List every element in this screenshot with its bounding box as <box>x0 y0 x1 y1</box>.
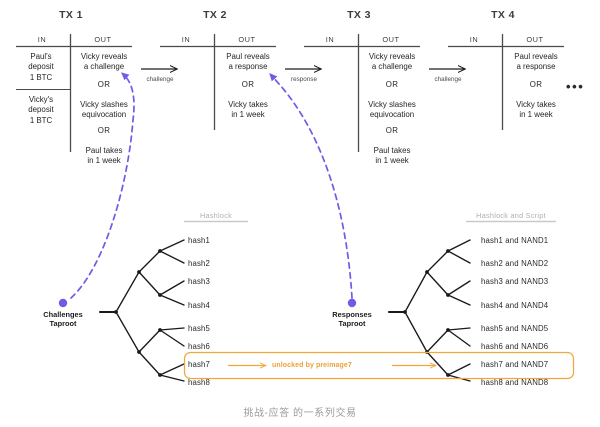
tx2-title: TX 2 <box>180 9 250 21</box>
challenges-leaf-7: hash8 <box>188 378 210 387</box>
tx3-out-item-2: Paul takes in 1 week <box>362 146 422 167</box>
tx2-out-or-0: OR <box>218 80 278 89</box>
responses-taproot-node <box>348 299 356 307</box>
tx3-out-or-1: OR <box>362 126 422 135</box>
flow-arrow-label-1: response <box>278 76 330 83</box>
challenges-tree-header: Hashlock <box>176 211 256 220</box>
tx4-title: TX 4 <box>468 9 538 21</box>
responses-tree-header: Hashlock and Script <box>461 211 561 220</box>
tx3-out-or-0: OR <box>362 80 422 89</box>
responses-taproot-label: Responses Taproot <box>317 310 387 329</box>
flow-arrow-label-0: challenge <box>134 76 186 83</box>
unlock-note: unlocked by preimage7 <box>272 362 352 369</box>
flow-arrow-label-2: challenge <box>422 76 474 83</box>
tx2-out-item-0: Paul reveals a response <box>218 52 278 73</box>
responses-leaf-7: hash8 and NAND8 <box>481 378 548 387</box>
challenges-taproot-label: Challenges Taproot <box>28 310 98 329</box>
tx2-out-header: OUT <box>220 35 274 44</box>
responses-leaf-1: hash2 and NAND2 <box>481 259 548 268</box>
responses-tree-branches <box>389 240 470 381</box>
tx3-out-item-0: Vicky reveals a challenge <box>362 52 422 73</box>
tx4-out-item-0: Paul reveals a response <box>506 52 566 73</box>
tx4-out-item-1: Vicky takes in 1 week <box>506 100 566 121</box>
tx1-in-item-1: Vicky's deposit 1 BTC <box>16 95 66 126</box>
challenges-leaf-1: hash2 <box>188 259 210 268</box>
tx1-in-header: IN <box>20 35 64 44</box>
challenges-leaf-2: hash3 <box>188 277 210 286</box>
continuation-ellipsis: ••• <box>566 80 594 93</box>
tx4-out-or-0: OR <box>506 80 566 89</box>
challenges-taproot-node <box>59 299 67 307</box>
tx3-out-header: OUT <box>364 35 418 44</box>
tx3-title: TX 3 <box>324 9 394 21</box>
challenges-tree-branches <box>100 240 184 381</box>
tx1-out-header: OUT <box>76 35 130 44</box>
diagram-canvas: TX 1 IN OUT Paul's deposit 1 BTC Vicky's… <box>0 0 600 427</box>
responses-leaf-0: hash1 and NAND1 <box>481 236 548 245</box>
diagram-caption: 挑战-应答 的一系列交易 <box>180 404 420 419</box>
tx1-out-item-0: Vicky reveals a challenge <box>74 52 134 73</box>
tx1-out-item-1: Vicky slashes equivocation <box>74 100 134 121</box>
responses-leaf-5: hash6 and NAND6 <box>481 342 548 351</box>
tx4-in-header: IN <box>452 35 496 44</box>
tx3-in-header: IN <box>308 35 352 44</box>
challenges-leaf-4: hash5 <box>188 324 210 333</box>
tx1-title: TX 1 <box>36 9 106 21</box>
tx4-out-header: OUT <box>508 35 562 44</box>
tx2-in-header: IN <box>164 35 208 44</box>
tx1-in-item-0: Paul's deposit 1 BTC <box>16 52 66 83</box>
responses-leaf-3: hash4 and NAND4 <box>481 301 548 310</box>
tx1-out-or-1: OR <box>74 126 134 135</box>
tx1-out-item-2: Paul takes in 1 week <box>74 146 134 167</box>
tx2-out-item-1: Vicky takes in 1 week <box>218 100 278 121</box>
challenges-leaf-3: hash4 <box>188 301 210 310</box>
responses-leaf-6: hash7 and NAND7 <box>481 360 548 369</box>
responses-tree-nodes <box>403 249 450 377</box>
challenges-tree-nodes <box>114 249 162 377</box>
responses-leaf-4: hash5 and NAND5 <box>481 324 548 333</box>
tx3-out-item-1: Vicky slashes equivocation <box>362 100 422 121</box>
responses-taproot-connector <box>271 75 352 298</box>
challenges-leaf-0: hash1 <box>188 236 210 245</box>
responses-leaf-2: hash3 and NAND3 <box>481 277 548 286</box>
challenges-leaf-5: hash6 <box>188 342 210 351</box>
challenges-leaf-6: hash7 <box>188 360 210 369</box>
tx1-out-or-0: OR <box>74 80 134 89</box>
